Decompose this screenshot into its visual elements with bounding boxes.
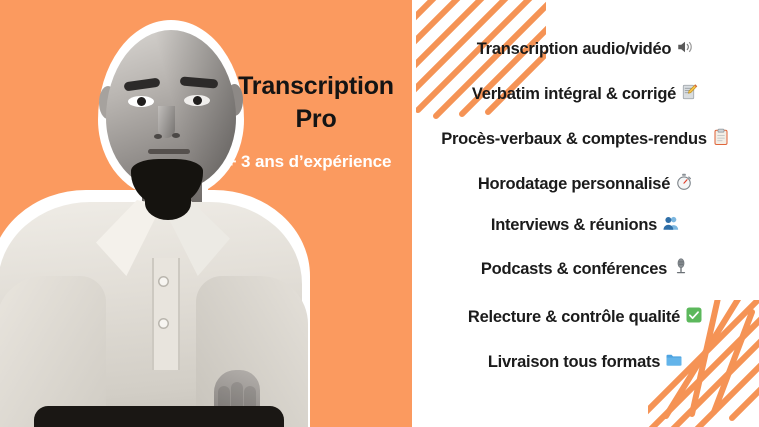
stopwatch-icon: [675, 173, 693, 191]
service-item: Relecture & contrôle qualité: [412, 306, 759, 327]
memo-icon: [681, 83, 699, 101]
service-item: Transcription audio/vidéo: [412, 38, 759, 59]
page-title-line-2: Pro: [224, 103, 408, 136]
promo-banner: Transcription Pro + 3 ans d’expérience: [0, 0, 759, 427]
portrait-placket: [152, 258, 180, 370]
service-item-label: Livraison tous formats: [488, 353, 660, 371]
service-item-label: Transcription audio/vidéo: [477, 40, 672, 58]
portrait-mouth: [148, 149, 190, 154]
portrait-shirt-button-bottom: [158, 318, 169, 329]
busts-icon: [662, 214, 680, 232]
service-item: Podcasts & conférences: [412, 258, 759, 279]
service-item-label: Podcasts & conférences: [481, 260, 667, 278]
service-item: Interviews & réunions: [412, 214, 759, 235]
portrait-goatee-chin: [145, 186, 191, 220]
service-item: Livraison tous formats: [412, 351, 759, 372]
experience-subtitle: + 3 ans d’expérience: [210, 152, 408, 172]
check-mark-icon: [685, 306, 703, 324]
left-orange-panel: Transcription Pro + 3 ans d’expérience: [0, 0, 412, 427]
service-item: Procès-verbaux & comptes-rendus: [412, 128, 759, 149]
page-title-line-1: Transcription: [224, 70, 408, 103]
portrait-nostril-right: [172, 133, 180, 138]
service-item: Verbatim intégral & corrigé: [412, 83, 759, 104]
portrait-nostril-left: [154, 134, 162, 139]
service-item-label: Verbatim intégral & corrigé: [472, 85, 676, 103]
service-item-label: Procès-verbaux & comptes-rendus: [441, 130, 707, 148]
service-item: Horodatage personnalisé: [412, 173, 759, 194]
clipboard-icon: [712, 128, 730, 146]
portrait-eye-right: [184, 95, 210, 106]
portrait-shirt-button-top: [158, 276, 169, 287]
folder-icon: [665, 351, 683, 369]
services-list: Transcription audio/vidéoVerbatim intégr…: [412, 0, 759, 427]
service-item-label: Horodatage personnalisé: [478, 175, 670, 193]
speaker-icon: [676, 38, 694, 56]
service-item-label: Interviews & réunions: [491, 216, 657, 234]
portrait-folded-arms: [34, 406, 284, 427]
portrait-sleeve-left: [0, 276, 106, 427]
page-title: Transcription Pro: [224, 70, 408, 136]
microphone-icon: [672, 258, 690, 276]
service-item-label: Relecture & contrôle qualité: [468, 308, 680, 326]
portrait-eye-left: [128, 96, 154, 107]
